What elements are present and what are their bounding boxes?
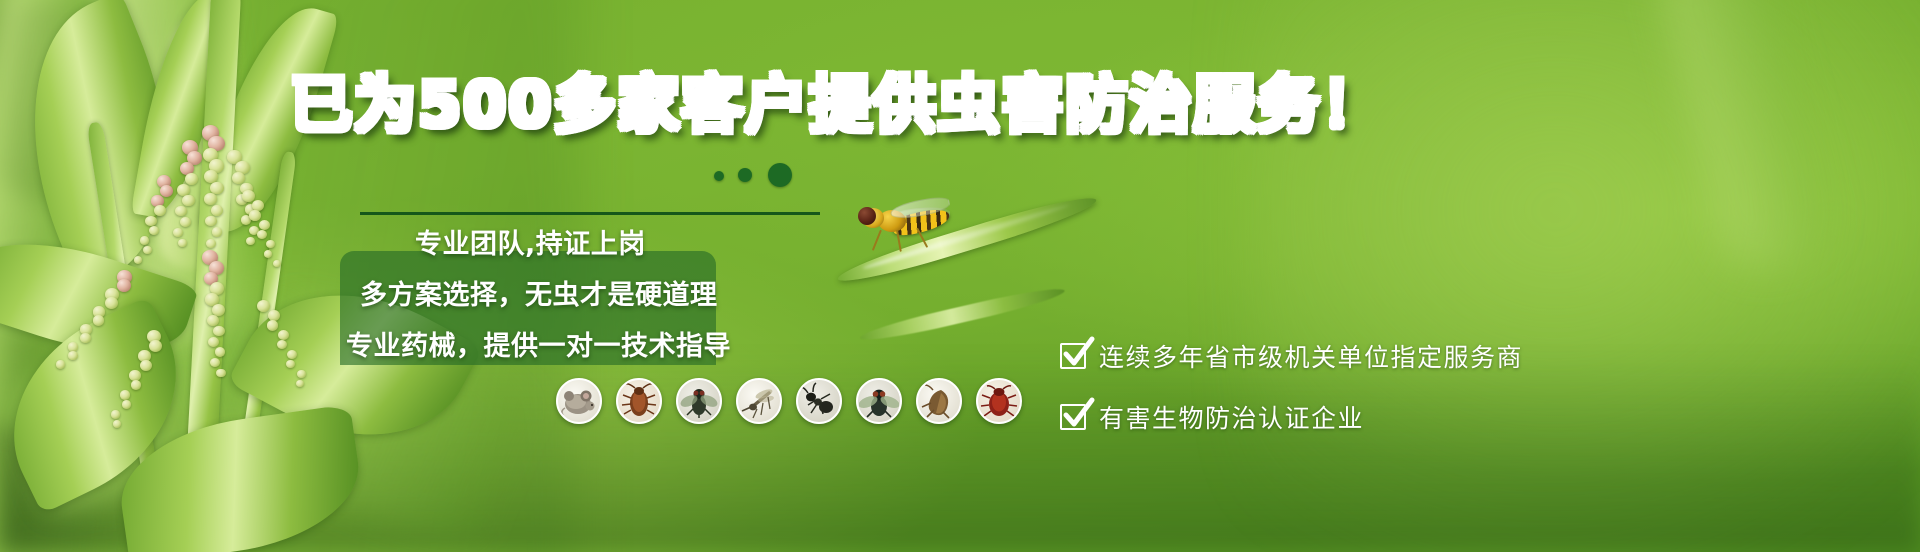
seed-bud (205, 216, 216, 227)
seed-bud (215, 347, 226, 357)
fly-eye (858, 207, 876, 225)
seed-bud (257, 300, 270, 312)
seed-bud (154, 205, 166, 216)
seed-bud (143, 246, 152, 254)
seed-bud (68, 351, 78, 360)
dot-medium (738, 168, 752, 182)
credentials-list: 连续多年省市级机关单位指定服务商 有害生物防治认证企业 (1060, 334, 1523, 439)
seed-bud (149, 226, 160, 236)
seed-bud (242, 190, 255, 202)
seed-bud (180, 217, 191, 227)
credential-label: 有害生物防治认证企业 (1099, 399, 1364, 435)
seed-bud (216, 369, 225, 378)
selling-point-3: 专业药械，提供一对一技术指导 (346, 324, 731, 363)
ant-icon (796, 378, 842, 424)
dot-small (714, 171, 724, 181)
seed-bud (129, 370, 141, 381)
cockroach-icon (616, 378, 662, 424)
seed-bud (249, 210, 261, 221)
seed-bud (175, 206, 187, 217)
seed-bud (68, 342, 78, 351)
seed-bud (296, 380, 304, 387)
list-item: 有害生物防治认证企业 (1060, 395, 1523, 439)
seed-bud (145, 216, 156, 226)
seed-bud (287, 350, 297, 359)
check-icon (1060, 404, 1086, 430)
seed-bud (140, 360, 152, 371)
seed-bud (178, 239, 188, 248)
housefly-icon (856, 378, 902, 424)
seed-bud (211, 205, 223, 216)
seed-bud (120, 390, 130, 399)
check-icon (1060, 343, 1086, 369)
seed-bud (267, 320, 279, 331)
seed-bud (208, 337, 219, 347)
hoverfly-icon (850, 196, 960, 256)
selling-point-1: 专业团队,持证上岗 (415, 222, 646, 261)
list-item: 连续多年省市级机关单位指定服务商 (1060, 334, 1523, 378)
decorative-dots (714, 163, 834, 187)
seed-bud (134, 256, 142, 264)
seed-bud (210, 358, 220, 367)
seed-bud (278, 330, 289, 340)
credential-label: 连续多年省市级机关单位指定服务商 (1099, 338, 1523, 374)
seed-bud (105, 297, 118, 309)
dot-large (768, 163, 792, 187)
divider (360, 212, 820, 215)
flea-icon (916, 378, 962, 424)
seed-bud (259, 220, 270, 230)
seed-bud (246, 237, 255, 245)
seed-bud (257, 230, 267, 239)
seed-bud (232, 172, 246, 184)
pest-control-banner: 已为500多家客户提供虫害防治服务！ 已为500多家客户提供虫害防治服务！ 专业… (0, 0, 1920, 552)
seed-bud (149, 340, 162, 352)
mosquito-icon (736, 378, 782, 424)
fly-icon (676, 378, 722, 424)
bedbug-icon (976, 378, 1022, 424)
seed-bud (140, 236, 150, 245)
seed-bud (182, 195, 194, 206)
seed-bud (213, 326, 225, 337)
fly-leg (872, 230, 882, 251)
seed-bud (264, 250, 273, 258)
seed-bud (56, 360, 65, 368)
pest-type-icons (556, 378, 1022, 424)
seed-bud (111, 410, 120, 418)
seed-bud (297, 370, 306, 378)
seed-bud (80, 333, 91, 343)
seed-bud (206, 239, 216, 248)
seed-bud (185, 173, 199, 186)
page-title: 已为500多家客户提供虫害防治服务！ (290, 74, 1290, 136)
mouse-icon (556, 378, 602, 424)
seed-bud (207, 315, 219, 326)
selling-point-2: 多方案选择，无虫才是硬道理 (360, 273, 718, 312)
seed-bud (113, 420, 121, 428)
seed-bud (204, 193, 217, 205)
seed-bud (173, 228, 183, 237)
